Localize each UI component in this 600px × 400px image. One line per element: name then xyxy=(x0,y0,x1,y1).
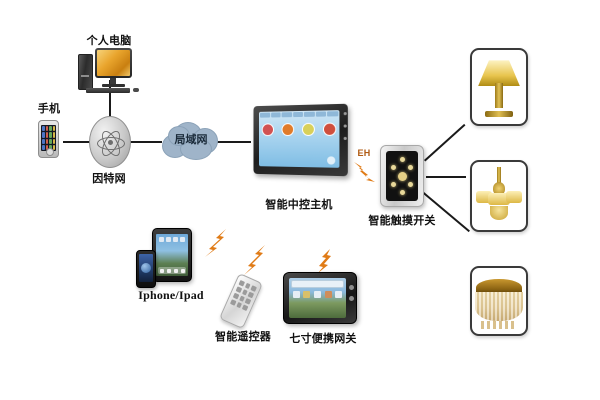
pc-label: 个人电脑 xyxy=(76,32,142,48)
lightning-bolt-icon-eh xyxy=(352,160,378,184)
link-phone-to-internet xyxy=(63,141,91,143)
mobile-phone-icon xyxy=(38,120,59,158)
table-lamp-icon xyxy=(472,50,526,124)
internet-label: 因特网 xyxy=(86,170,132,186)
internet-globe-icon xyxy=(89,116,131,168)
host-label: 智能中控主机 xyxy=(251,196,347,212)
crystal-ceiling-light-icon xyxy=(472,268,526,334)
remote-control-icon xyxy=(219,273,263,329)
control-panel-icon xyxy=(253,104,347,177)
lightning-bolt-icon-tablet xyxy=(204,228,230,258)
lightning-bolt-icon-gateway xyxy=(316,248,336,274)
portable-gateway-icon xyxy=(283,272,357,324)
gateway-label: 七寸便携网关 xyxy=(280,330,366,346)
switch-label: 智能触摸开关 xyxy=(360,212,444,228)
load-box-crystal-light xyxy=(470,266,528,336)
load-box-chandelier xyxy=(470,160,528,232)
remote-label: 智能遥控器 xyxy=(203,328,283,344)
lan-label: 局域网 xyxy=(160,131,222,147)
tablet-phone-icon xyxy=(152,228,192,282)
tablet-label: Iphone/Ipad xyxy=(128,288,214,303)
link-internet-to-lan xyxy=(128,141,162,143)
desktop-computer-icon xyxy=(78,48,142,94)
cloud-icon: 局域网 xyxy=(160,118,222,162)
chandelier-icon xyxy=(472,162,526,230)
link-switch-to-table-lamp xyxy=(424,124,465,162)
diagram-canvas: 个人电脑 手机 因特网 局域网 智能中控主机 EH xyxy=(0,0,600,400)
lightning-bolt-icon-remote xyxy=(242,244,268,276)
small-phone-icon xyxy=(136,250,156,288)
link-switch-to-chandelier xyxy=(426,176,466,178)
touch-switch-icon xyxy=(380,145,424,207)
phone-label: 手机 xyxy=(27,100,71,116)
protocol-label: EH xyxy=(352,148,376,158)
load-box-table-lamp xyxy=(470,48,528,126)
